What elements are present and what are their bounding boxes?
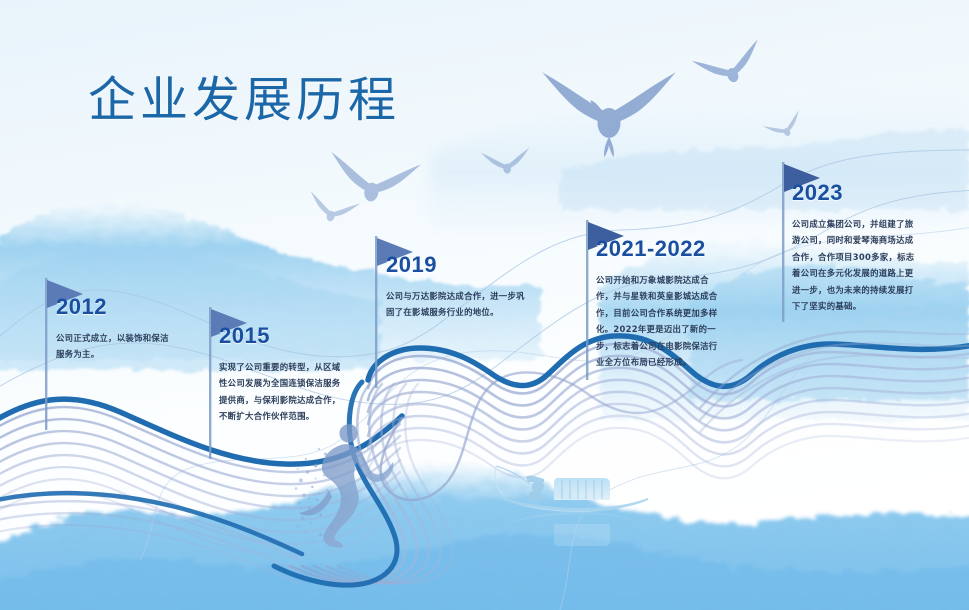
milestone-2012: 2012 公司正式成立，以装饰和保洁服务为主。 xyxy=(56,296,176,363)
milestone-description: 实现了公司重要的转型，从区域性公司发展为全国连锁保洁服务提供商，与保利影院达成合… xyxy=(219,359,341,425)
milestone-year: 2012 xyxy=(56,296,176,318)
milestone-year: 2023 xyxy=(792,182,916,204)
milestone-description: 公司正式成立，以装饰和保洁服务为主。 xyxy=(56,330,176,363)
infographic-canvas: 企业发展历程 2012 公司正式成立，以装饰和保洁服务为主。 2015 实现了公… xyxy=(0,0,969,610)
milestone-year: 2021-2022 xyxy=(596,238,718,260)
page-title: 企业发展历程 xyxy=(88,60,400,130)
milestone-year: 2015 xyxy=(219,325,341,347)
milestone-2019: 2019 公司与万达影院达成合作，进一步巩固了在影城服务行业的地位。 xyxy=(386,254,532,321)
milestone-description: 公司与万达影院达成合作，进一步巩固了在影城服务行业的地位。 xyxy=(386,288,532,321)
milestone-description: 公司成立集团公司，并组建了旅游公司，同时和爱琴海商场达成合作，合作项目300多家… xyxy=(792,216,916,314)
milestone-2015: 2015 实现了公司重要的转型，从区域性公司发展为全国连锁保洁服务提供商，与保利… xyxy=(219,325,341,425)
milestone-2021-2022: 2021-2022 公司开始和万象城影院达成合作，并与星轶和英皇影城达成合作，目… xyxy=(596,238,718,370)
milestone-description: 公司开始和万象城影院达成合作，并与星轶和英皇影城达成合作，目前公司合作系统更加多… xyxy=(596,272,718,370)
milestone-2023: 2023 公司成立集团公司，并组建了旅游公司，同时和爱琴海商场达成合作，合作项目… xyxy=(792,182,916,314)
milestone-year: 2019 xyxy=(386,254,532,276)
